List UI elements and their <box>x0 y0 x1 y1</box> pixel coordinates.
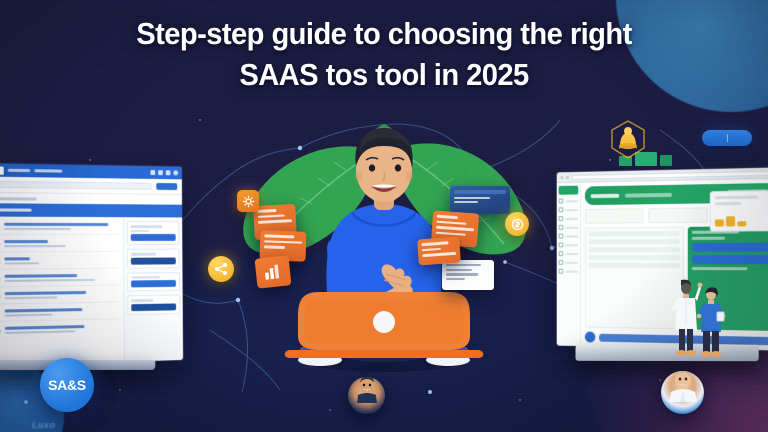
person-avatar-center[interactable] <box>348 377 385 414</box>
search-button[interactable] <box>156 183 177 190</box>
pill-label-right <box>734 135 743 142</box>
side-card[interactable] <box>127 272 180 292</box>
close-icon[interactable] <box>560 176 563 179</box>
left-topbar-icons <box>150 170 178 175</box>
stat-card[interactable] <box>585 208 643 223</box>
person-avatar-right[interactable] <box>661 371 704 414</box>
standing-figures-illustration <box>664 278 734 360</box>
coin-badge[interactable] <box>505 212 529 236</box>
tag-icon <box>559 260 564 265</box>
figure-blue-shirt <box>697 287 726 357</box>
left-dashboard-mockup[interactable] <box>0 163 183 366</box>
right-sidebar <box>557 183 581 346</box>
title-line-2: SAAS tos tool in 2025 <box>51 55 717 96</box>
grid-icon[interactable] <box>166 170 171 175</box>
list-item[interactable] <box>0 321 120 338</box>
sidebar-item[interactable] <box>559 234 579 239</box>
cta-pill-button[interactable] <box>702 130 752 146</box>
sidebar-item[interactable] <box>559 269 579 274</box>
help-icon[interactable] <box>158 170 163 175</box>
users-icon <box>559 225 564 230</box>
fab-button[interactable] <box>585 332 595 343</box>
left-dashboard-logo <box>0 166 4 174</box>
sidebar-item[interactable] <box>559 216 579 221</box>
left-dashboard-body <box>0 217 183 367</box>
sidebar-item[interactable] <box>559 207 579 212</box>
person-head <box>355 128 413 202</box>
sticky-note <box>660 155 672 166</box>
watermark: Luxo <box>32 420 56 430</box>
settings-badge[interactable] <box>237 190 259 212</box>
coin-icon <box>715 219 724 226</box>
stat-card[interactable] <box>648 207 708 223</box>
saas-logo-label: SA&S <box>48 377 86 393</box>
face-icon <box>352 377 382 403</box>
sidebar-item[interactable] <box>559 251 579 256</box>
left-dashboard-list <box>0 217 124 367</box>
gear-icon <box>559 269 564 274</box>
sidebar-item[interactable] <box>559 225 579 230</box>
right-dashboard-logo <box>559 186 579 195</box>
left-nav-item-2[interactable] <box>34 169 62 172</box>
sidebar-item[interactable] <box>559 198 579 203</box>
coin-icon <box>511 218 524 231</box>
green-panel-button-1[interactable] <box>692 243 768 252</box>
title-line-1: Step-step guide to choosing the right <box>51 14 717 55</box>
floating-card-document[interactable] <box>442 260 494 290</box>
gold-trophy-icon <box>606 118 650 162</box>
home-icon <box>559 199 564 204</box>
right-kpi-card[interactable] <box>710 190 768 232</box>
table-row[interactable] <box>589 263 680 268</box>
pill-divider <box>727 134 728 142</box>
left-section-header <box>0 203 182 217</box>
floating-card-chart[interactable] <box>255 255 292 288</box>
row-icon <box>0 326 1 335</box>
left-nav-item-1[interactable] <box>8 169 30 172</box>
laptop <box>285 292 484 358</box>
pill-label-left <box>711 135 722 142</box>
gear-icon <box>242 195 255 208</box>
share-nodes-icon <box>214 262 228 276</box>
floating-card-window[interactable] <box>450 186 510 214</box>
left-dashboard-sidepanel <box>123 217 183 362</box>
table-row[interactable] <box>589 231 680 237</box>
folder-icon <box>559 216 564 221</box>
list-item[interactable] <box>0 220 119 235</box>
side-card[interactable] <box>127 249 180 268</box>
phone-icon <box>559 234 564 239</box>
share-network-badge[interactable] <box>208 256 234 282</box>
bell-icon[interactable] <box>150 170 155 175</box>
list-item[interactable] <box>0 304 120 322</box>
list-item[interactable] <box>0 288 120 305</box>
side-card[interactable] <box>127 221 180 245</box>
green-panel-button-2[interactable] <box>692 255 768 264</box>
table-row[interactable] <box>589 239 680 244</box>
floating-card[interactable] <box>417 237 461 266</box>
mail-icon <box>559 242 564 247</box>
list-item[interactable] <box>0 271 119 288</box>
calendar-icon <box>559 251 564 256</box>
side-card[interactable] <box>127 295 180 315</box>
sidebar-item[interactable] <box>559 242 579 247</box>
hero-title: Step-step guide to choosing the right SA… <box>0 14 768 96</box>
address-bar[interactable] <box>572 170 768 179</box>
hero-graphic: Step-step guide to choosing the right SA… <box>0 0 768 432</box>
saas-logo-badge[interactable]: SA&S <box>40 358 94 412</box>
avatar[interactable] <box>173 170 178 175</box>
table-row[interactable] <box>589 255 680 260</box>
bar-chart-icon <box>262 263 284 281</box>
table-row[interactable] <box>589 247 680 252</box>
left-dashboard-searchbar <box>0 177 182 195</box>
row-icon <box>0 292 1 301</box>
chart-icon <box>559 207 564 212</box>
face-icon <box>665 371 701 402</box>
minimize-icon[interactable] <box>566 176 569 179</box>
sidebar-item[interactable] <box>559 260 579 265</box>
right-dashboard-mockup[interactable] <box>557 167 768 350</box>
list-item[interactable] <box>0 254 119 270</box>
list-item[interactable] <box>0 237 119 252</box>
search-input[interactable] <box>0 181 152 190</box>
